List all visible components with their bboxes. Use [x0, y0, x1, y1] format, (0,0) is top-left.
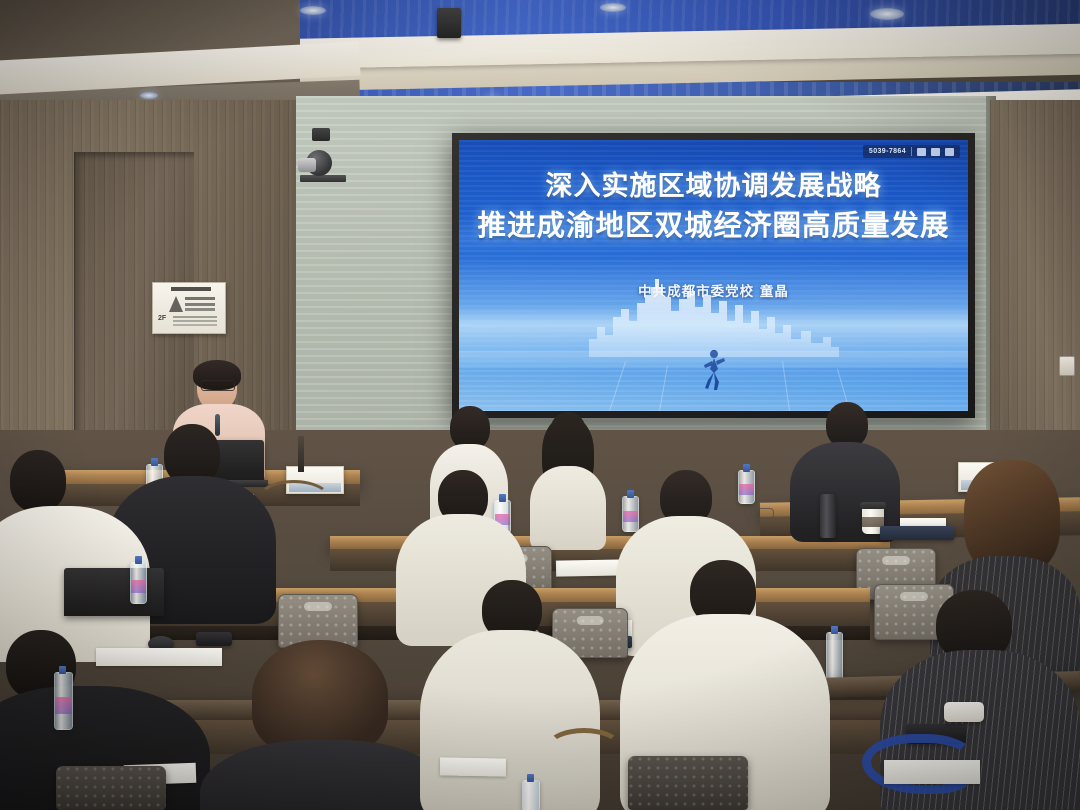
slide-title: 深入实施区域协调发展战略 推进成渝地区双城经济圈高质量发展	[459, 168, 968, 247]
attendee-laptop[interactable]	[64, 568, 164, 616]
chair[interactable]	[628, 756, 748, 810]
screen-device-id: 5039-7864	[869, 148, 906, 155]
projector-mount	[437, 8, 461, 38]
earbuds-case[interactable]	[944, 702, 984, 722]
papers	[884, 760, 980, 784]
water-bottle[interactable]	[522, 780, 540, 810]
presenter-glasses	[201, 380, 235, 391]
attendee-10-brown-hair-front	[200, 640, 450, 810]
attendee-2-white-shirt	[0, 450, 150, 650]
sign-text-lines	[185, 297, 215, 300]
message-icon	[945, 148, 954, 156]
desk-cable	[546, 728, 622, 766]
thermos-bottle[interactable]	[820, 494, 836, 538]
downlight	[870, 8, 904, 20]
chair-handle	[304, 602, 332, 611]
camera-bracket	[300, 175, 346, 182]
attendee-body	[420, 630, 600, 810]
desk-lamp-stand	[298, 436, 304, 472]
camera-lens	[298, 158, 316, 172]
screen-status-bar: 5039-7864	[863, 145, 960, 158]
attendee-body	[530, 466, 606, 550]
attendee-4-woman-long-hair	[530, 412, 606, 540]
slide-title-line-2: 推进成渝地区双城经济圈高质量发展	[459, 206, 968, 246]
papers	[440, 757, 506, 776]
chair-handle	[882, 556, 910, 565]
attendee-head	[252, 640, 388, 756]
projection-screen[interactable]: 5039-7864 深入实施区域协调发展战略 推进成渝地区双城经济圈高质量发展 …	[452, 133, 975, 418]
sign-legend-lines	[173, 316, 217, 318]
chair[interactable]	[56, 766, 166, 810]
attendee-head	[10, 450, 66, 512]
water-bottle[interactable]	[54, 672, 73, 730]
bottle-label	[131, 580, 146, 593]
wifi-icon	[917, 148, 926, 156]
city-skyline-icon	[589, 277, 839, 357]
evacuation-map-sign: 2F	[152, 282, 226, 334]
sign-header-bar	[171, 287, 211, 291]
lecture-hall-photo: 2F 5039-7864 深入实施区域协调发展战略 推进成渝地区双城经济圈高质量…	[0, 0, 1080, 810]
bottle-label	[55, 697, 72, 715]
slide-surface: 5039-7864 深入实施区域协调发展战略 推进成渝地区双城经济圈高质量发展 …	[459, 140, 968, 411]
sign-figure-icon	[169, 296, 183, 312]
display-icon	[931, 148, 940, 156]
sign-floor-label: 2F	[158, 315, 166, 322]
downlight	[140, 92, 158, 99]
water-bottle[interactable]	[130, 562, 147, 604]
status-separator	[911, 147, 912, 156]
downlight	[600, 3, 626, 12]
downlight	[300, 6, 326, 15]
wall-panel-right	[990, 100, 1080, 480]
light-switch[interactable]	[1059, 356, 1075, 376]
attendee-body	[200, 740, 450, 810]
camera-housing	[312, 128, 330, 141]
slide-title-line-1: 深入实施区域协调发展战略	[546, 171, 882, 202]
